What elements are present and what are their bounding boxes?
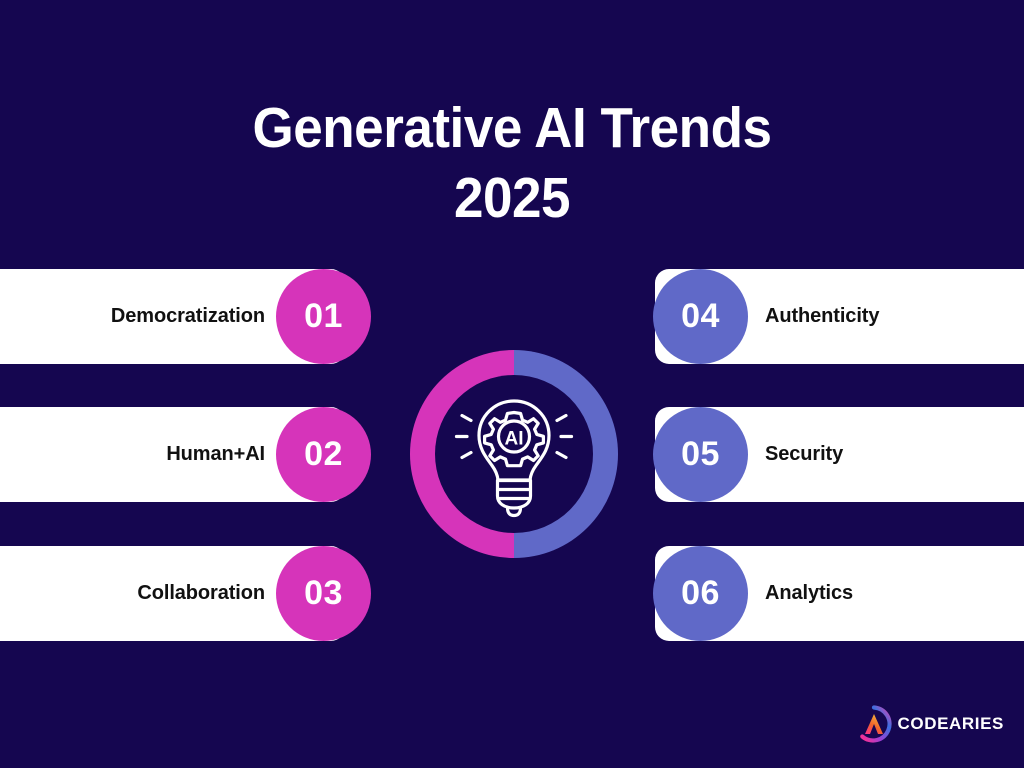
trend-row-01[interactable]: Democratization 01 [0,269,345,364]
trend-number-badge: 01 [276,269,371,364]
trend-row-02[interactable]: Human+AI 02 [0,407,345,502]
ai-lightbulb-gear-icon: AI [439,379,589,529]
trend-row-05[interactable]: 05 Security [655,407,1024,502]
brand-name: CODEARIES [898,714,1004,734]
trend-label: Analytics [765,546,1005,641]
title-line-1: Generative AI Trends [36,98,988,160]
codearies-a-ring-logo-icon [852,702,896,746]
trend-number-badge: 04 [653,269,748,364]
infographic-poster: Generative AI Trends 2025 Democratizatio… [0,0,1024,768]
trend-label: Human+AI [40,407,265,502]
title-line-2: 2025 [36,168,988,230]
trend-number-badge: 02 [276,407,371,502]
ai-label: AI [505,429,524,450]
trend-number-badge: 03 [276,546,371,641]
brand-logo: CODEARIES [852,702,1004,746]
trend-label: Authenticity [765,269,1005,364]
trend-row-06[interactable]: 06 Analytics [655,546,1024,641]
trend-label: Collaboration [40,546,265,641]
trend-label: Democratization [40,269,265,364]
trend-number-badge: 06 [653,546,748,641]
page-title: Generative AI Trends 2025 [0,98,1024,229]
center-emblem: AI [410,350,618,558]
trend-row-03[interactable]: Collaboration 03 [0,546,345,641]
trend-row-04[interactable]: 04 Authenticity [655,269,1024,364]
trend-label: Security [765,407,1005,502]
trend-number-badge: 05 [653,407,748,502]
